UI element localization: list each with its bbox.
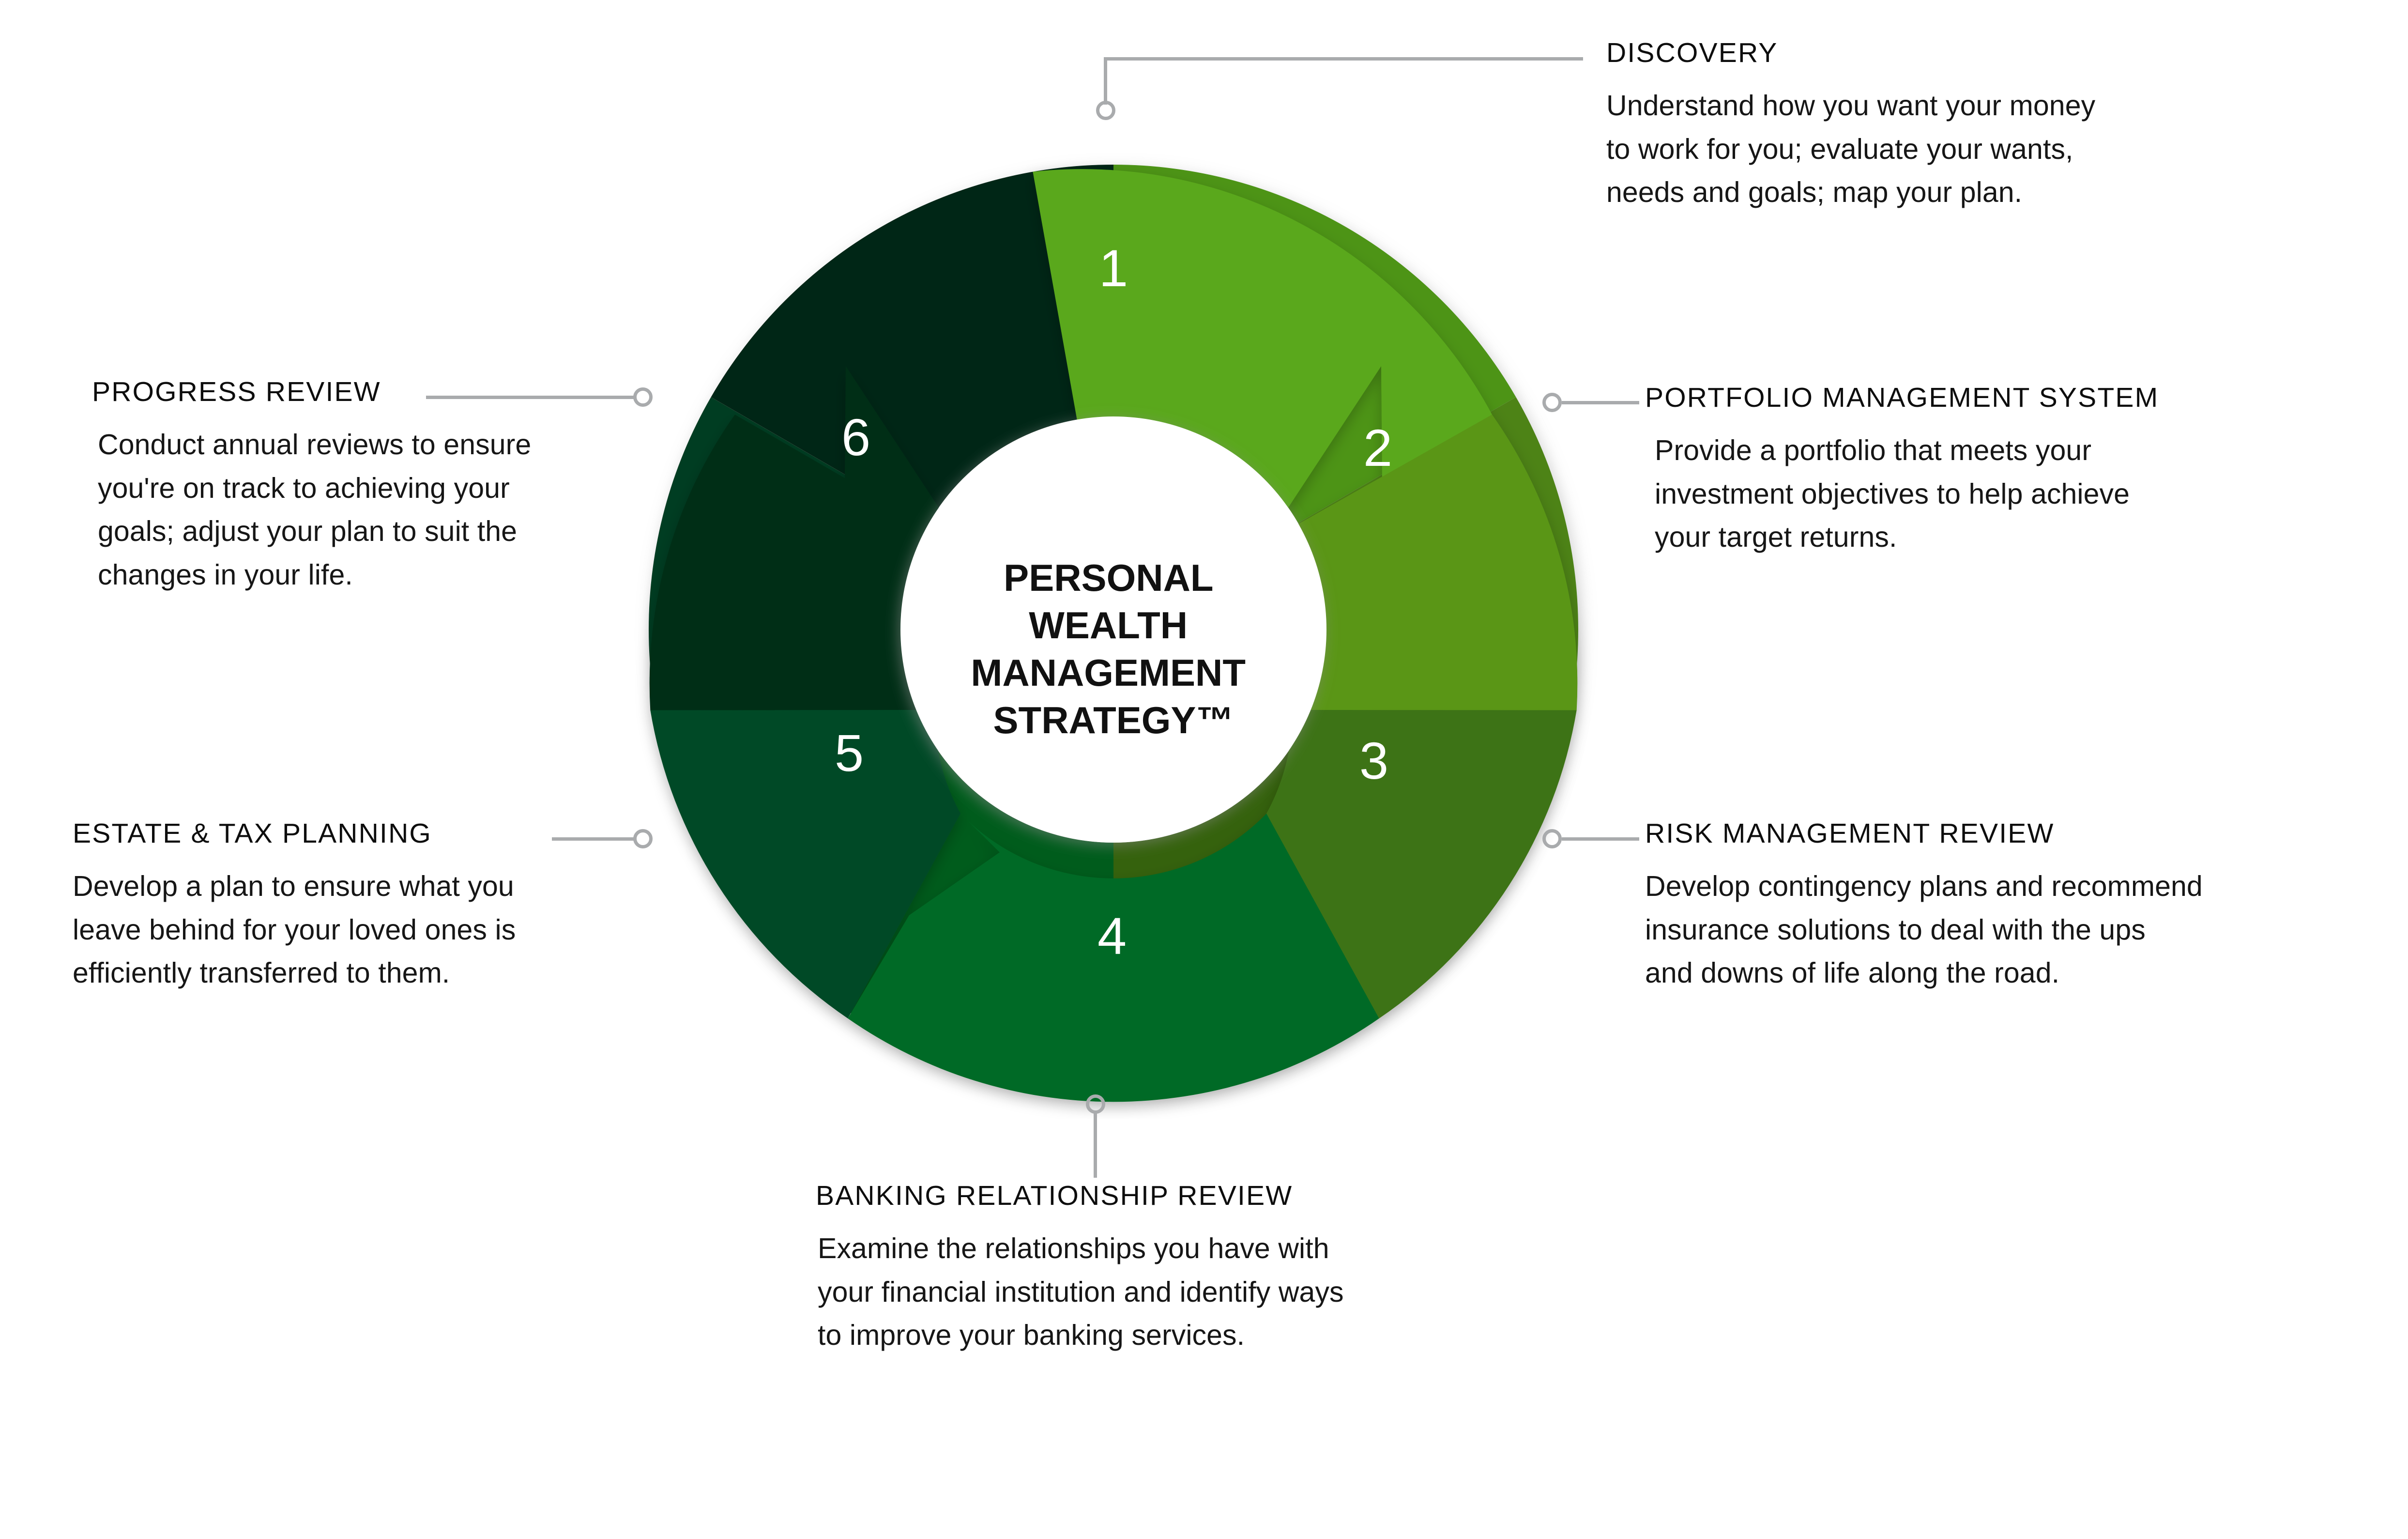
wheel-number-6: 6 (841, 408, 870, 466)
callout-risk-body-line-2: insurance solutions to deal with the ups (1645, 908, 2400, 952)
connector-dot-estate (633, 829, 653, 848)
wheel-number-3: 3 (1359, 731, 1388, 790)
callout-risk-body-line-3: and downs of life along the road. (1645, 952, 2400, 995)
wheel-number-4: 4 (1097, 907, 1127, 965)
callout-risk-title: RISK MANAGEMENT REVIEW (1645, 819, 2400, 848)
callout-progress: PROGRESS REVIEW Conduct annual reviews t… (92, 378, 586, 597)
callout-discovery-title: DISCOVERY (1606, 39, 2342, 68)
callout-progress-body-line-4: changes in your life. (98, 554, 586, 597)
callout-discovery-body-line-3: needs and goals; map your plan. (1606, 171, 2342, 215)
wheel-number-1: 1 (1099, 239, 1128, 297)
callout-discovery-body-line-1: Understand how you want your money (1606, 84, 2342, 128)
callout-discovery-body-line-2: to work for you; evaluate your wants, (1606, 128, 2342, 171)
callout-banking-body-line-2: your financial institution and identify … (818, 1271, 1590, 1314)
connector-dot-portfolio (1542, 393, 1562, 412)
callout-estate-body-line-3: efficiently transferred to them. (73, 952, 557, 995)
callout-progress-body-line-2: you're on track to achieving your (98, 467, 586, 510)
callout-portfolio: PORTFOLIO MANAGEMENT SYSTEM Provide a po… (1645, 384, 2400, 559)
wheel-number-5: 5 (835, 723, 864, 782)
connector-dot-risk (1542, 829, 1562, 848)
callout-banking-body-line-3: to improve your banking services. (818, 1314, 1590, 1357)
diagram-canvas: 1 2 3 4 5 6 PERSONAL WEALTH MANAGEMENT S… (0, 0, 2408, 1539)
callout-banking-title: BANKING RELATIONSHIP REVIEW (816, 1182, 1590, 1211)
center-title-line-1: PERSONAL (1004, 556, 1213, 599)
callout-portfolio-title: PORTFOLIO MANAGEMENT SYSTEM (1645, 384, 2400, 413)
callout-risk: RISK MANAGEMENT REVIEW Develop contingen… (1645, 819, 2400, 995)
callout-discovery-body: Understand how you want your money to wo… (1606, 84, 2342, 215)
callout-portfolio-body-line-3: your target returns. (1655, 516, 2400, 559)
wheel-number-2: 2 (1363, 418, 1392, 477)
callout-portfolio-body: Provide a portfolio that meets your inve… (1645, 429, 2400, 559)
connector-line-risk (1562, 837, 1639, 841)
callout-banking: BANKING RELATIONSHIP REVIEW Examine the … (816, 1182, 1590, 1357)
connector-dot-progress (633, 387, 653, 407)
callout-progress-body-line-1: Conduct annual reviews to ensure (98, 423, 586, 467)
callout-progress-body-line-3: goals; adjust your plan to suit the (98, 510, 586, 554)
callout-estate-body-line-2: leave behind for your loved ones is (73, 908, 557, 952)
callout-estate-body: Develop a plan to ensure what you leave … (73, 865, 557, 995)
connector-line-discovery-horizontal (1104, 57, 1583, 61)
callout-discovery: DISCOVERY Understand how you want your m… (1606, 39, 2342, 215)
callout-banking-body: Examine the relationships you have with … (816, 1227, 1590, 1357)
callout-estate: ESTATE & TAX PLANNING Develop a plan to … (73, 819, 557, 995)
callout-estate-body-line-1: Develop a plan to ensure what you (73, 865, 557, 908)
connector-line-banking (1094, 1113, 1097, 1178)
callout-progress-body: Conduct annual reviews to ensure you're … (92, 423, 586, 597)
connector-line-estate (552, 837, 635, 841)
center-title-line-2: WEALTH (1029, 604, 1188, 646)
center-title-line-4: STRATEGY™ (993, 699, 1234, 741)
callout-portfolio-body-line-2: investment objectives to help achieve (1655, 473, 2400, 516)
callout-estate-title: ESTATE & TAX PLANNING (73, 819, 557, 848)
callout-banking-body-line-1: Examine the relationships you have with (818, 1227, 1590, 1271)
connector-line-portfolio (1562, 401, 1639, 404)
center-title-line-3: MANAGEMENT (971, 651, 1246, 694)
callout-progress-title: PROGRESS REVIEW (92, 378, 586, 407)
connector-line-discovery-vertical (1104, 57, 1107, 105)
callout-portfolio-body-line-1: Provide a portfolio that meets your (1655, 429, 2400, 473)
cycle-wheel: 1 2 3 4 5 6 PERSONAL WEALTH MANAGEMENT S… (625, 140, 1602, 1119)
callout-risk-body-line-1: Develop contingency plans and recommend (1645, 865, 2400, 908)
callout-risk-body: Develop contingency plans and recommend … (1645, 865, 2400, 995)
connector-dot-banking (1086, 1094, 1105, 1114)
